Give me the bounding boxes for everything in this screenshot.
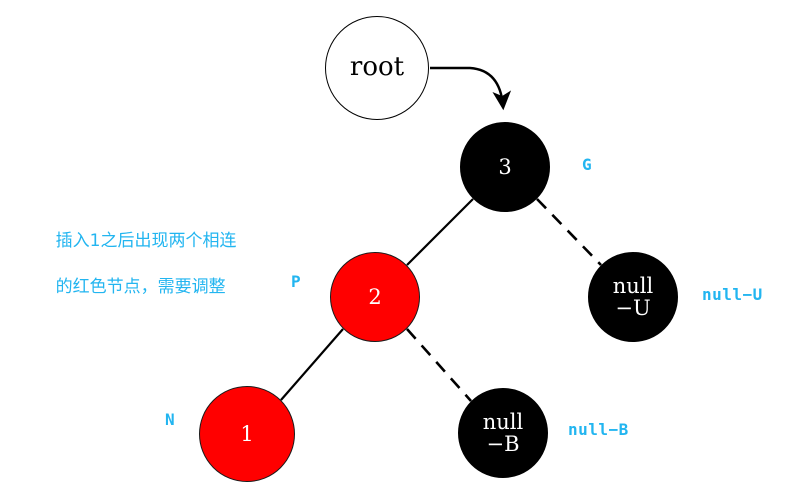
tag-g: G bbox=[582, 155, 592, 174]
annotation-line-2: 的红色节点，需要调整 bbox=[56, 277, 226, 297]
node-2-label-line1: 2 bbox=[368, 286, 381, 308]
tag-p: P bbox=[291, 272, 301, 291]
edge-2-to-null-b bbox=[407, 329, 471, 401]
annotation-text: 插入1之后出现两个相连 的红色节点，需要调整 bbox=[34, 207, 236, 322]
node-null-u[interactable]: null −U bbox=[588, 252, 678, 342]
node-1[interactable]: 1 bbox=[199, 386, 295, 482]
node-3-label-line1: 3 bbox=[498, 156, 511, 178]
root-node[interactable]: root bbox=[325, 16, 429, 120]
edge-3-to-2 bbox=[407, 199, 473, 265]
tag-null-u: null−U bbox=[702, 285, 763, 304]
tree-diagram-canvas: root 3 2 1 null −U null −B G P N null−U … bbox=[0, 0, 811, 501]
node-1-label-line1: 1 bbox=[240, 423, 253, 445]
tag-null-b: null−B bbox=[568, 420, 629, 439]
edge-root-to-3 bbox=[430, 68, 503, 106]
node-null-b[interactable]: null −B bbox=[458, 388, 548, 478]
node-2[interactable]: 2 bbox=[330, 252, 420, 342]
edge-2-to-1 bbox=[281, 329, 343, 400]
node-null-u-label-line2: −U bbox=[615, 297, 650, 319]
node-3[interactable]: 3 bbox=[460, 122, 550, 212]
annotation-line-1: 插入1之后出现两个相连 bbox=[56, 231, 237, 251]
node-null-u-label-line1: null bbox=[613, 275, 653, 297]
node-null-b-label-line2: −B bbox=[486, 433, 519, 455]
tag-n: N bbox=[165, 410, 175, 429]
node-null-b-label-line1: null bbox=[483, 411, 523, 433]
edge-3-to-null-u bbox=[537, 199, 601, 265]
root-node-label-line1: root bbox=[350, 54, 404, 81]
